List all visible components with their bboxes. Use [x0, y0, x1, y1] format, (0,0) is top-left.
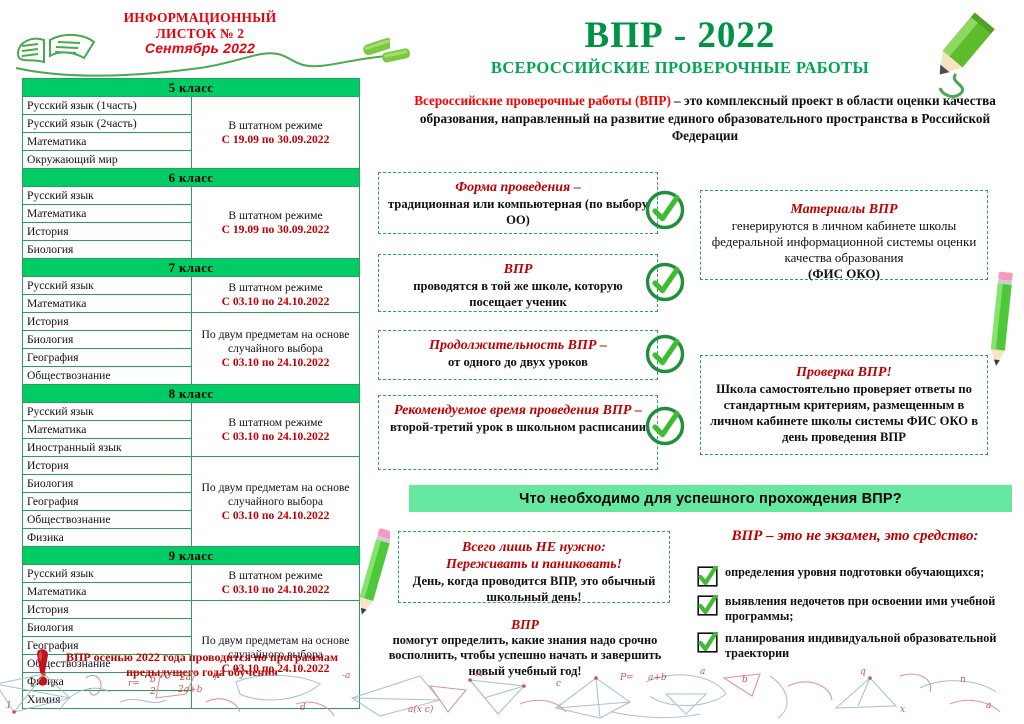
subject-cell: Русский язык (2часть): [23, 115, 192, 133]
info-line-2: ЛИСТОК № 2: [60, 26, 340, 42]
subject-cell: История: [23, 457, 192, 475]
page-subtitle: ВСЕРОССИЙСКИЕ ПРОВЕРОЧНЫЕ РАБОТЫ: [430, 58, 930, 78]
subject-cell: Биология: [23, 475, 192, 493]
subject-cell: География: [23, 493, 192, 511]
mode-dates: С 03.10 по 24.10.2022: [196, 583, 355, 597]
subject-cell: Математика: [23, 295, 192, 313]
subject-cell: Биология: [23, 241, 192, 259]
table-row: ИсторияПо двум предметам на основе случа…: [23, 601, 360, 619]
pencil-icon: [356, 524, 390, 628]
fact-body: проводятся в той же школе, которую посещ…: [387, 278, 649, 310]
list-item: выявления недочетов при освоении ими уче…: [697, 594, 1015, 624]
page-title: ВПР - 2022: [430, 16, 930, 56]
subject-cell: Обществознание: [23, 511, 192, 529]
checkbox-checked-icon: [697, 632, 718, 653]
subject-cell: Обществознание: [23, 367, 192, 385]
checkbox-checked-icon: [697, 595, 718, 616]
table-row: Русский языкВ штатном режимеС 03.10 по 2…: [23, 403, 360, 421]
table-row: ИсторияПо двум предметам на основе случа…: [23, 313, 360, 331]
list-item: планирования индивидуальной образователь…: [697, 631, 1015, 661]
svg-text:b: b: [150, 675, 156, 685]
svg-text:r=: r=: [128, 679, 140, 689]
subject-cell: История: [23, 223, 192, 241]
table-row: Русский языкВ штатном режимеС 03.10 по 2…: [23, 277, 360, 295]
table-row: ИсторияПо двум предметам на основе случа…: [23, 457, 360, 475]
svg-text:2a+b: 2a+b: [177, 685, 203, 695]
mode-cell: В штатном режимеС 19.09 по 30.09.2022: [192, 97, 360, 169]
mode-dates: С 03.10 по 24.10.2022: [196, 509, 355, 523]
mode-cell: В штатном режимеС 03.10 по 24.10.2022: [192, 277, 360, 313]
grade-label: 8 класс: [23, 385, 360, 403]
poster-page: ИНФОРМАЦИОННЫЙ ЛИСТОК № 2 Сентябрь 2022 …: [0, 0, 1024, 724]
svg-text:p: p: [214, 671, 220, 681]
info-line-1: ИНФОРМАЦИОННЫЙ: [60, 10, 340, 26]
intro-highlight: Всероссийские проверочные работы (ВПР): [414, 93, 671, 108]
table-row: Русский языкВ штатном режимеС 03.10 по 2…: [23, 565, 360, 583]
fact-head: Форма проведения –: [387, 179, 649, 196]
info-header: ИНФОРМАЦИОННЫЙ ЛИСТОК № 2 Сентябрь 2022: [60, 10, 340, 57]
grade-header-row: 8 класс: [23, 385, 360, 403]
grade-label: 6 класс: [23, 169, 360, 187]
subject-cell: Физика: [23, 529, 192, 547]
pencil-icon: [984, 262, 1018, 378]
grade-label: 9 класс: [23, 547, 360, 565]
subject-cell: Иностранный язык: [23, 439, 192, 457]
mode-text: В штатном режиме: [196, 119, 355, 133]
mode-text: В штатном режиме: [196, 281, 355, 295]
svg-text:c: c: [556, 679, 561, 689]
intro-paragraph: Всероссийские проверочные работы (ВПР) –…: [400, 92, 1010, 145]
list-item: определения уровня подготовки обучающихс…: [697, 565, 1015, 587]
no-panic-head-2: Переживать и паниковать!: [407, 556, 661, 573]
fact-body: традиционная или компьютерная (по выбору…: [387, 196, 649, 228]
checklist-title: ВПР – это не экзамен, это средство:: [700, 527, 1010, 545]
fact-head: Материалы ВПР: [709, 201, 979, 218]
mode-cell: В штатном режимеС 03.10 по 24.10.2022: [192, 403, 360, 457]
main-title-block: ВПР - 2022 ВСЕРОССИЙСКИЕ ПРОВЕРОЧНЫЕ РАБ…: [430, 16, 930, 78]
grade-header-row: 6 класс: [23, 169, 360, 187]
svg-text:-a: -a: [342, 671, 350, 681]
no-panic-head-1: Всего лишь НЕ нужно:: [407, 539, 661, 556]
mode-text: По двум предметам на основе случайного в…: [196, 481, 355, 509]
svg-text:A: A: [475, 669, 483, 679]
subject-cell: Русский язык: [23, 277, 192, 295]
subject-cell: Русский язык: [23, 187, 192, 205]
grade-label: 5 класс: [23, 79, 360, 97]
fact-body: генерируются в личном кабинете школы фед…: [709, 218, 979, 266]
section-banner: Что необходимо для успешного прохождения…: [409, 485, 1012, 512]
svg-text:n: n: [960, 675, 966, 685]
list-item-label: определения уровня подготовки обучающихс…: [725, 565, 984, 580]
subject-cell: Биология: [23, 619, 192, 637]
table-row: Русский язык (1часть)В штатном режимеС 1…: [23, 97, 360, 115]
svg-text:a: a: [258, 669, 263, 679]
grade-label: 7 класс: [23, 259, 360, 277]
mode-cell: В штатном режимеС 03.10 по 24.10.2022: [192, 565, 360, 601]
svg-text:b: b: [742, 675, 748, 685]
fact-box-form: Форма проведения – традиционная или комп…: [378, 172, 658, 234]
fact-body: от одного до двух уроков: [387, 354, 649, 370]
fact-body-2: (ФИС ОКО): [709, 266, 979, 282]
no-panic-body: День, когда проводится ВПР, это обычный …: [407, 573, 661, 605]
mode-cell: По двум предметам на основе случайного в…: [192, 313, 360, 385]
fact-head: Продолжительность ВПР –: [387, 337, 649, 354]
subject-cell: Русский язык (1часть): [23, 97, 192, 115]
mode-text: В штатном режиме: [196, 569, 355, 583]
table-row: Русский языкВ штатном режимеС 19.09 по 3…: [23, 187, 360, 205]
mode-dates: С 19.09 по 30.09.2022: [196, 223, 355, 237]
fact-head: Рекомендуемое время проведения ВПР –: [387, 402, 649, 419]
svg-text:a+b: a+b: [648, 673, 667, 683]
schedule-table: 5 классРусский язык (1часть)В штатном ре…: [22, 78, 360, 709]
fact-box-location: ВПР проводятся в той же школе, которую п…: [378, 254, 658, 312]
mode-text: В штатном режиме: [196, 209, 355, 223]
mode-cell: По двум предметам на основе случайного в…: [192, 457, 360, 547]
check-circle-icon: [644, 261, 686, 303]
subject-cell: Русский язык: [23, 565, 192, 583]
grade-header-row: 5 класс: [23, 79, 360, 97]
pencil-icon: [378, 42, 418, 68]
mode-dates: С 03.10 по 24.10.2022: [196, 356, 355, 370]
check-circle-icon: [644, 189, 686, 231]
fact-box-checking: Проверка ВПР! Школа самостоятельно прове…: [700, 355, 988, 455]
mode-dates: С 03.10 по 24.10.2022: [196, 295, 355, 309]
svg-text:a: a: [986, 701, 991, 711]
fact-box-no-panic: Всего лишь НЕ нужно: Переживать и панико…: [398, 531, 670, 603]
subject-cell: Русский язык: [23, 403, 192, 421]
fact-body: Школа самостоятельно проверяет ответы по…: [709, 381, 979, 445]
check-circle-icon: [644, 333, 686, 375]
info-line-3: Сентябрь 2022: [60, 41, 340, 57]
math-sketch-border: c1 r=b2 2a2a+b ad a(x c) Ac P=a+b ab qx …: [0, 668, 1024, 724]
list-item-label: планирования индивидуальной образователь…: [725, 631, 1015, 661]
grade-header-row: 9 класс: [23, 547, 360, 565]
grade-header-row: 7 класс: [23, 259, 360, 277]
subject-cell: Математика: [23, 133, 192, 151]
mode-text: По двум предметам на основе случайного в…: [196, 328, 355, 356]
mode-text: В штатном режиме: [196, 416, 355, 430]
checkbox-checked-icon: [697, 566, 718, 587]
svg-text:q: q: [860, 668, 866, 677]
fact-box-time: Рекомендуемое время проведения ВПР – вто…: [378, 395, 658, 470]
fact-box-duration: Продолжительность ВПР – от одного до дву…: [378, 330, 658, 380]
svg-text:2: 2: [149, 687, 156, 697]
subject-cell: Математика: [23, 421, 192, 439]
fact-head: ВПР: [387, 261, 649, 278]
fact-head: Проверка ВПР!: [709, 364, 979, 381]
subject-cell: Биология: [23, 331, 192, 349]
fact-box-materials: Материалы ВПР генерируются в личном каби…: [700, 190, 988, 280]
mode-cell: В штатном режимеС 19.09 по 30.09.2022: [192, 187, 360, 259]
list-item-label: выявления недочетов при освоении ими уче…: [725, 594, 1015, 624]
svg-text:a: a: [700, 668, 705, 677]
fact-body: второй-третий урок в школьном расписании: [387, 419, 649, 435]
mode-dates: С 03.10 по 24.10.2022: [196, 430, 355, 444]
svg-text:2a: 2a: [179, 673, 191, 683]
subject-cell: География: [23, 349, 192, 367]
subject-cell: История: [23, 313, 192, 331]
check-circle-icon: [644, 405, 686, 447]
subject-cell: История: [23, 601, 192, 619]
banner-text: Что необходимо для успешного прохождения…: [519, 491, 902, 507]
svg-text:P=: P=: [619, 673, 634, 683]
subject-cell: Окружающий мир: [23, 151, 192, 169]
svg-text:1: 1: [6, 701, 12, 711]
svg-text:a(x c): a(x c): [408, 704, 434, 715]
vpr-help-head: ВПР: [375, 617, 675, 633]
svg-text:x: x: [900, 705, 905, 715]
subject-cell: Математика: [23, 583, 192, 601]
subject-cell: Математика: [23, 205, 192, 223]
mode-dates: С 19.09 по 30.09.2022: [196, 133, 355, 147]
checklist: определения уровня подготовки обучающихс…: [697, 565, 1015, 668]
svg-text:d: d: [300, 703, 306, 713]
